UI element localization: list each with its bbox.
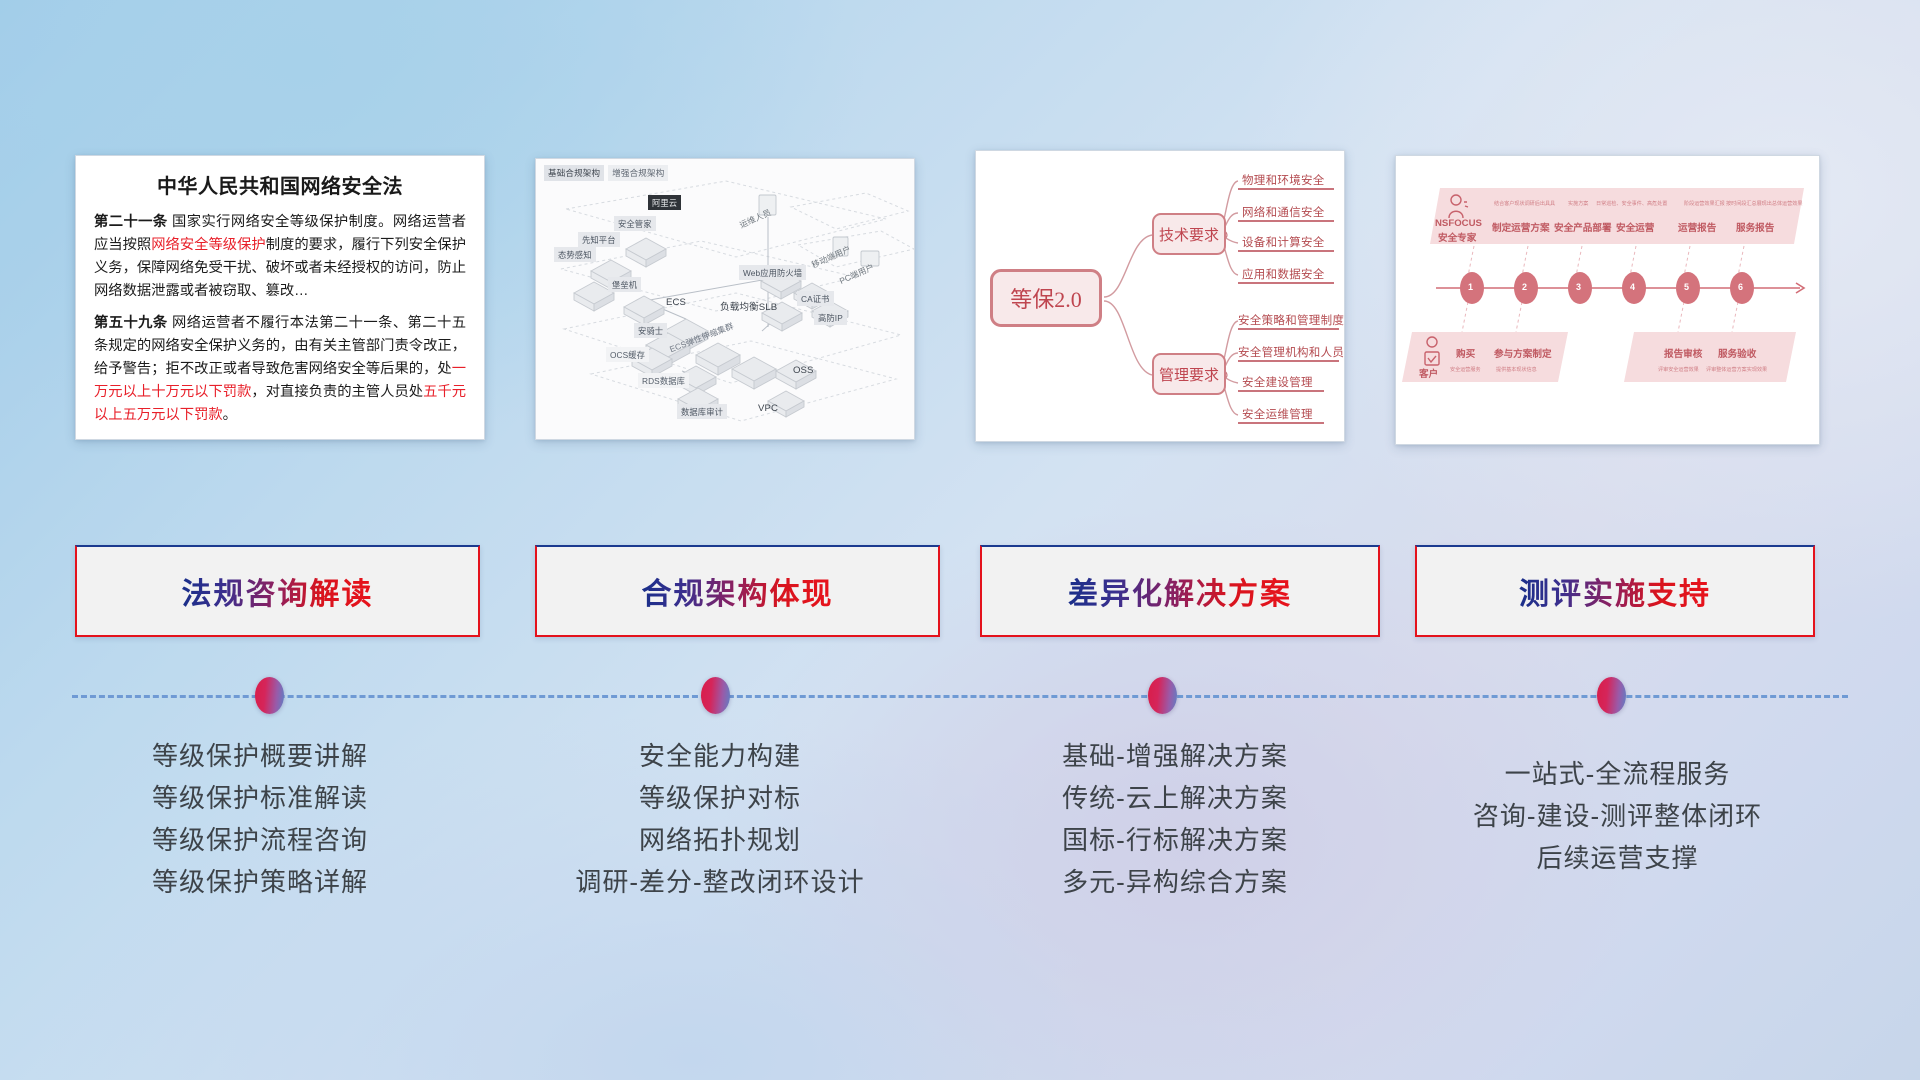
bottom-sub-4: 评审整体运营方案实现效果: [1706, 366, 1767, 373]
section-title-label-4: 测评实施支持: [1519, 569, 1711, 613]
node-label-rds: RDS数据库: [638, 373, 689, 388]
node-label-oss: OSS: [789, 363, 818, 377]
node-label-ecs: ECS: [662, 295, 690, 309]
law-article-21: 第二十一条 国家实行网络安全等级保护制度。网络运营者应当按照网络安全等级保护制度…: [94, 211, 466, 304]
list-item: 等级保护概要讲解: [60, 735, 460, 777]
detail-list-1: 等级保护概要讲解 等级保护标准解读 等级保护流程咨询 等级保护策略详解: [60, 735, 460, 903]
node-label-ca-cert: CA证书: [797, 291, 834, 306]
list-item: 传统-云上解决方案: [965, 777, 1385, 819]
detail-list-2: 安全能力构建 等级保护对标 网络拓扑规划 调研-差分-整改闭环设计: [520, 735, 920, 903]
timeline-marker-4[interactable]: [1597, 677, 1626, 714]
card-dengbao-mindmap[interactable]: 等保2.0 技术要求 管理要求 物理和环境安全 网络和通信安全 设备和计算安全 …: [975, 150, 1345, 442]
article-59-text-3: 。: [223, 407, 237, 423]
timeline-step-number-5: 5: [1684, 282, 1689, 292]
customer-role: 客户: [1419, 366, 1438, 380]
preview-card-row: 中华人民共和国网络安全法 第二十一条 国家实行网络安全等级保护制度。网络运营者应…: [0, 0, 1920, 450]
section-title-label-1: 法规咨询解读: [182, 569, 374, 613]
card-cybersecurity-law[interactable]: 中华人民共和国网络安全法 第二十一条 国家实行网络安全等级保护制度。网络运营者应…: [75, 155, 485, 440]
node-label-anqishi: 安骑士: [634, 323, 667, 338]
mindmap-leaf-device-compute: 设备和计算安全: [1242, 234, 1325, 250]
top-title-3: 安全运营: [1616, 220, 1654, 234]
node-label-xianzhi: 先知平台: [578, 232, 620, 247]
list-item: 等级保护标准解读: [60, 777, 460, 819]
timeline-step-number-6: 6: [1738, 282, 1743, 292]
list-item: 调研-差分-整改闭环设计: [520, 861, 920, 903]
node-label-anti-ddos-ip: 高防IP: [814, 310, 847, 325]
bottom-title-4: 服务验收: [1718, 346, 1756, 360]
article-21-highlight: 网络安全等级保护: [151, 237, 265, 253]
list-item: 基础-增强解决方案: [965, 735, 1385, 777]
node-label-bastion-host: 堡垒机: [608, 277, 641, 292]
law-body: 中华人民共和国网络安全法 第二十一条 国家实行网络安全等级保护制度。网络运营者应…: [76, 156, 484, 440]
node-label-db-audit: 数据库审计: [677, 404, 727, 419]
timeline-marker-1[interactable]: [255, 677, 284, 714]
section-title-label-2: 合规架构体现: [642, 569, 834, 613]
mindmap-leaf-ops-mgmt: 安全运维管理: [1242, 406, 1313, 422]
top-sub-4: 阶段运营效果汇报: [1684, 200, 1725, 207]
law-article-59: 第五十九条 网络运营者不履行本法第二十一条、第二十五条规定的网络安全保护义务的，…: [94, 312, 466, 428]
top-sub-2: 实施方案: [1568, 200, 1588, 207]
section-title-box-1[interactable]: 法规咨询解读: [75, 545, 480, 637]
nsfocus-timeline: 1 2 3 4 5 6 NSFOCUS 安全专家 客户 结合客户现状调研后出具具…: [1396, 156, 1819, 444]
node-label-slb: 负载均衡SLB: [716, 297, 781, 314]
top-title-4: 运营报告: [1678, 220, 1716, 234]
timeline-step-number-1: 1: [1468, 282, 1473, 292]
mindmap: 等保2.0 技术要求 管理要求 物理和环境安全 网络和通信安全 设备和计算安全 …: [976, 151, 1344, 441]
section-title-box-4[interactable]: 测评实施支持: [1415, 545, 1815, 637]
bottom-title-1: 购买: [1456, 346, 1475, 360]
list-item: 等级保护对标: [520, 777, 920, 819]
mindmap-leaf-network-comm: 网络和通信安全: [1242, 204, 1325, 220]
timeline-marker-3[interactable]: [1148, 677, 1177, 714]
section-title-label-3: 差异化解决方案: [1068, 569, 1292, 613]
mindmap-branch-technical[interactable]: 技术要求: [1152, 213, 1226, 255]
list-item: 一站式-全流程服务: [1395, 753, 1840, 795]
article-59-text-2: ，对直接负责的主管人员处: [251, 384, 423, 400]
detail-list-3: 基础-增强解决方案 传统-云上解决方案 国标-行标解决方案 多元-异构综合方案: [965, 735, 1385, 903]
section-detail-lists: 等级保护概要讲解 等级保护标准解读 等级保护流程咨询 等级保护策略详解 安全能力…: [0, 735, 1920, 1015]
mindmap-root[interactable]: 等保2.0: [990, 269, 1102, 327]
top-title-1: 制定运营方案: [1492, 220, 1550, 234]
timeline-dashed-line: [72, 695, 1848, 698]
bottom-sub-3: 评审安全运营效果: [1658, 366, 1699, 373]
list-item: 网络拓扑规划: [520, 819, 920, 861]
node-label-situational-awareness: 态势感知: [554, 247, 596, 262]
detail-list-4: 一站式-全流程服务 咨询-建设-测评整体闭环 后续运营支撑: [1395, 753, 1840, 879]
list-item: 安全能力构建: [520, 735, 920, 777]
list-item: 等级保护策略详解: [60, 861, 460, 903]
provider-name: NSFOCUS: [1435, 218, 1482, 229]
timeline-step-number-3: 3: [1576, 282, 1581, 292]
card-nsfocus-operation-timeline[interactable]: 1 2 3 4 5 6 NSFOCUS 安全专家 客户 结合客户现状调研后出具具…: [1395, 155, 1820, 445]
mindmap-leaf-app-data: 应用和数据安全: [1242, 266, 1325, 282]
top-sub-3: 日常巡检、安全事件、高危处置: [1596, 200, 1667, 207]
list-item: 多元-异构综合方案: [965, 861, 1385, 903]
law-title: 中华人民共和国网络安全法: [94, 170, 466, 199]
top-sub-5: 按时间段汇总展现出总体运营效果: [1726, 200, 1802, 207]
section-title-box-2[interactable]: 合规架构体现: [535, 545, 940, 637]
list-item: 后续运营支撑: [1395, 837, 1840, 879]
article-21-label: 第二十一条: [94, 214, 168, 230]
list-item: 等级保护流程咨询: [60, 819, 460, 861]
bottom-title-2: 参与方案制定: [1494, 346, 1552, 360]
mindmap-leaf-physical-env: 物理和环境安全: [1242, 172, 1325, 188]
timeline-axis: [0, 655, 1920, 735]
architecture-diagram: 基础合规架构 增强合规架构: [536, 159, 914, 439]
top-sub-1: 结合客户现状调研后出具具: [1494, 200, 1555, 207]
list-item: 国标-行标解决方案: [965, 819, 1385, 861]
node-label-waf: Web应用防火墙: [739, 265, 806, 280]
node-label-security-housekeeper: 安全管家: [614, 216, 656, 231]
bottom-title-3: 报告审核: [1664, 346, 1702, 360]
mindmap-leaf-org-personnel: 安全管理机构和人员: [1238, 344, 1344, 360]
bottom-sub-1: 安全运营服务: [1450, 366, 1481, 373]
card-compliance-architecture[interactable]: 基础合规架构 增强合规架构: [535, 158, 915, 440]
provider-role: 安全专家: [1438, 230, 1476, 244]
timeline-step-number-4: 4: [1630, 282, 1635, 292]
bottom-sub-2: 提供基本现状信息: [1496, 366, 1537, 373]
mindmap-branch-management[interactable]: 管理要求: [1152, 353, 1226, 395]
timeline-marker-2[interactable]: [701, 677, 730, 714]
node-label-vpc: VPC: [754, 401, 782, 415]
node-label-ocs-cache: OCS缓存: [606, 347, 649, 362]
mindmap-leaf-policy-system: 安全策略和管理制度: [1238, 312, 1344, 328]
section-title-box-3[interactable]: 差异化解决方案: [980, 545, 1380, 637]
mindmap-leaf-construction-mgmt: 安全建设管理: [1242, 374, 1313, 390]
section-title-row: 法规咨询解读 合规架构体现 差异化解决方案 测评实施支持: [0, 545, 1920, 645]
timeline-step-number-2: 2: [1522, 282, 1527, 292]
article-59-label: 第五十九条: [94, 315, 168, 331]
list-item: 咨询-建设-测评整体闭环: [1395, 795, 1840, 837]
top-title-5: 服务报告: [1736, 220, 1774, 234]
node-label-aliyun: 阿里云: [648, 195, 681, 210]
top-title-2: 安全产品部署: [1554, 220, 1612, 234]
